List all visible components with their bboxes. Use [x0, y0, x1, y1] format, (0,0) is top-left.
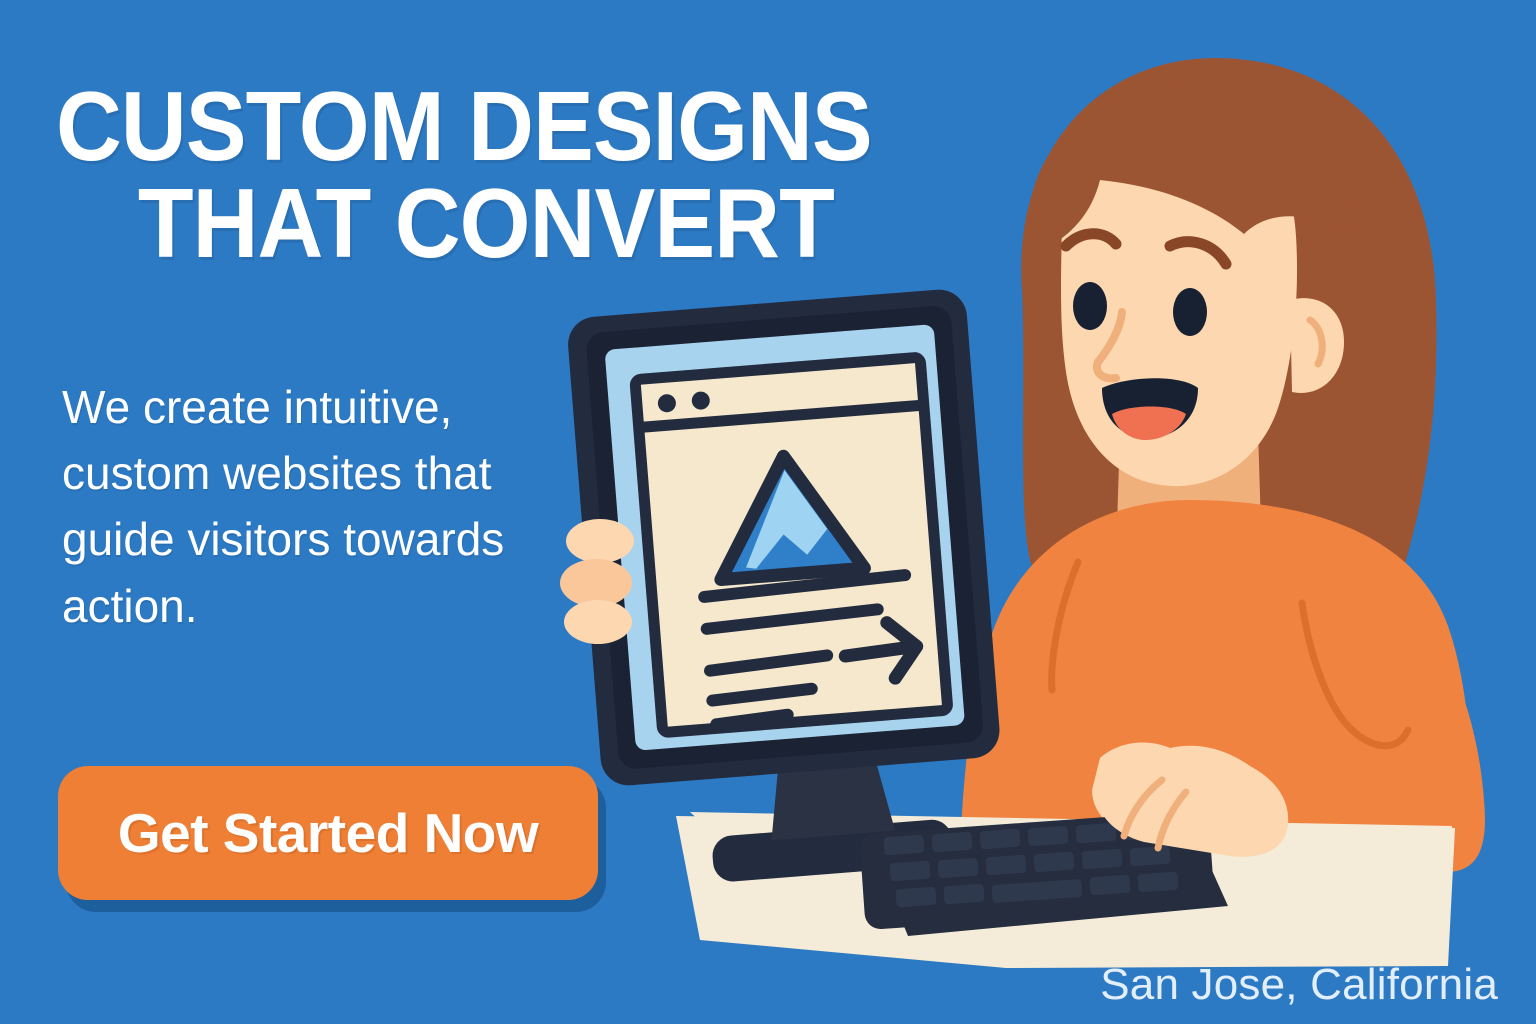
- head: [1061, 118, 1297, 486]
- location-label: San Jose, California: [1100, 960, 1498, 1010]
- content-line-4: [712, 689, 812, 701]
- monitor-neck: [765, 749, 895, 840]
- ear: [1290, 298, 1344, 393]
- finger-crease-2: [1158, 792, 1186, 848]
- monitor-screen: [605, 324, 966, 751]
- get-started-button[interactable]: Get Started Now: [58, 766, 598, 900]
- browser-titlebar-divider: [639, 405, 924, 427]
- page-title: CUSTOM DESIGNS THAT CONVERT: [56, 78, 893, 272]
- promo-banner: CUSTOM DESIGNS THAT CONVERT We create in…: [0, 0, 1536, 1024]
- finger-line-1: [1120, 778, 1158, 834]
- keyboard-body-rounded: [859, 810, 1215, 930]
- browser-dot-1: [657, 394, 676, 413]
- desk-surface: [690, 812, 1452, 964]
- content-line-2: [706, 609, 878, 628]
- eyebrow-left: [1066, 234, 1116, 246]
- mountain-peak-highlight: [739, 467, 830, 569]
- hand-right: [1092, 743, 1284, 855]
- subcopy-text: We create intuitive, custom websites tha…: [62, 374, 532, 639]
- keyboard-body: [872, 826, 1228, 936]
- arrow-right-icon: [843, 620, 919, 681]
- headline-line-1: CUSTOM DESIGNS: [56, 78, 893, 175]
- hand-left-fingers: [560, 519, 634, 644]
- keyboard-keys: [883, 820, 1178, 908]
- eyebrow-right: [1170, 242, 1226, 264]
- keyboard: [859, 810, 1228, 936]
- finger-line-2: [1152, 790, 1180, 846]
- mountain-triangle-icon: [712, 451, 865, 580]
- ear-inner: [1310, 320, 1322, 364]
- tongue: [1112, 407, 1186, 441]
- content-line-1: [704, 575, 906, 597]
- browser-window: [635, 357, 948, 732]
- monitor-base: [711, 818, 954, 883]
- finger-2: [560, 559, 632, 607]
- content-line-5: [716, 715, 788, 725]
- hair-back: [1021, 58, 1436, 678]
- hand-right-top: [1096, 745, 1288, 857]
- content-line-3: [710, 655, 828, 670]
- nose: [1097, 312, 1122, 378]
- finger-3: [564, 600, 632, 644]
- finger-1: [566, 519, 634, 563]
- mouth: [1102, 378, 1198, 438]
- monitor-bezel: [566, 288, 1002, 788]
- neck: [1116, 430, 1262, 560]
- cta-container: Get Started Now: [58, 766, 598, 900]
- desk-surface-2: [676, 816, 1455, 968]
- hair-front: [1027, 86, 1352, 250]
- monitor: [566, 288, 1010, 892]
- finger-crease-1: [1124, 780, 1162, 836]
- eye-left: [1073, 282, 1107, 330]
- sleeve-crease-left: [1052, 562, 1078, 690]
- browser-dot-2: [691, 391, 710, 410]
- shirt-arm-right: [1264, 600, 1485, 872]
- shirt-torso: [960, 500, 1471, 860]
- headline-line-2: THAT CONVERT: [56, 175, 893, 272]
- eye-right: [1173, 288, 1207, 336]
- sleeve-crease-right: [1302, 603, 1408, 746]
- monitor-bezel-inner: [585, 305, 984, 770]
